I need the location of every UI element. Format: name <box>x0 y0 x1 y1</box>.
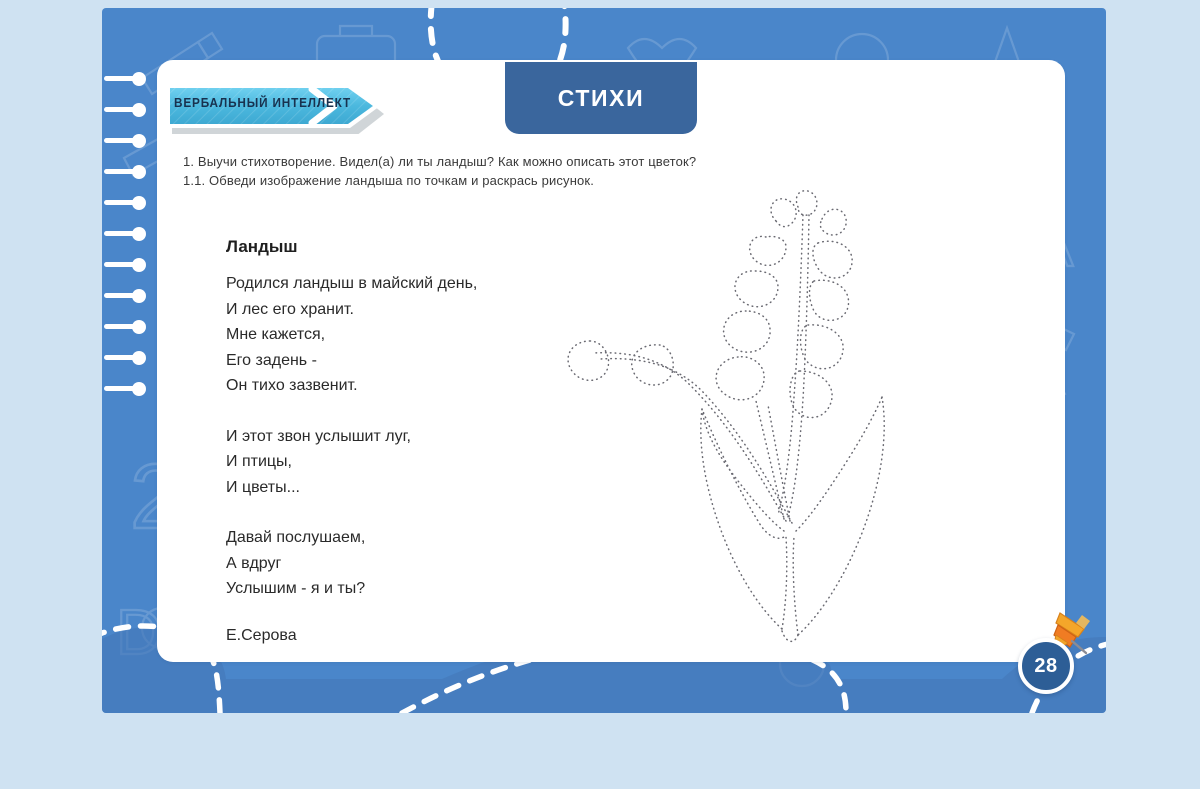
instruction-line-1: 1. Выучи стихотворение. Видел(а) ли ты л… <box>183 152 883 171</box>
poem-line: Услышим - я и ты? <box>226 576 566 602</box>
poem-block: Ландыш Родился ландыш в майский день, И … <box>226 237 566 645</box>
poem-line: И этот звон услышит луг, <box>226 424 566 450</box>
poem-line: И цветы... <box>226 475 566 501</box>
poem-line: Он тихо зазвенит. <box>226 373 566 399</box>
instruction-line-2: 1.1. Обведи изображение ландыша по точка… <box>183 171 883 190</box>
poem-line: Родился ландыш в майский день, <box>226 271 566 297</box>
poem-line: Давай послушаем, <box>226 525 566 551</box>
category-badge-label: ВЕРБАЛЬНЫЙ ИНТЕЛЛЕКТ <box>174 80 351 126</box>
page-number-badge: 28 <box>1018 638 1074 694</box>
poem-line: Мне кажется, <box>226 322 566 348</box>
stanza-spacer <box>226 399 566 424</box>
poem-line: И лес его хранит. <box>226 297 566 323</box>
poem-stanza-3: Давай послушаем, А вдруг Услышим - я и т… <box>226 525 566 602</box>
poem-line: И птицы, <box>226 449 566 475</box>
page-number-text: 28 <box>1034 655 1057 678</box>
section-title-text: СТИХИ <box>558 85 645 112</box>
poem-line: А вдруг <box>226 551 566 577</box>
category-badge: ВЕРБАЛЬНЫЙ ИНТЕЛЛЕКТ <box>160 80 388 134</box>
section-title-tab: СТИХИ <box>505 62 697 134</box>
poem-author: Е.Серова <box>226 627 566 645</box>
spiral-binding <box>104 74 166 404</box>
stanza-spacer <box>226 500 566 525</box>
poem-stanza-1: Родился ландыш в майский день, И лес его… <box>226 271 566 399</box>
poem-title: Ландыш <box>226 237 566 257</box>
instructions-block: 1. Выучи стихотворение. Видел(а) ли ты л… <box>183 152 883 190</box>
worksheet-page: B A 2 D B A <box>0 0 1200 789</box>
poem-stanza-2: И этот звон услышит луг, И птицы, И цвет… <box>226 424 566 501</box>
poem-line: Его задень - <box>226 348 566 374</box>
